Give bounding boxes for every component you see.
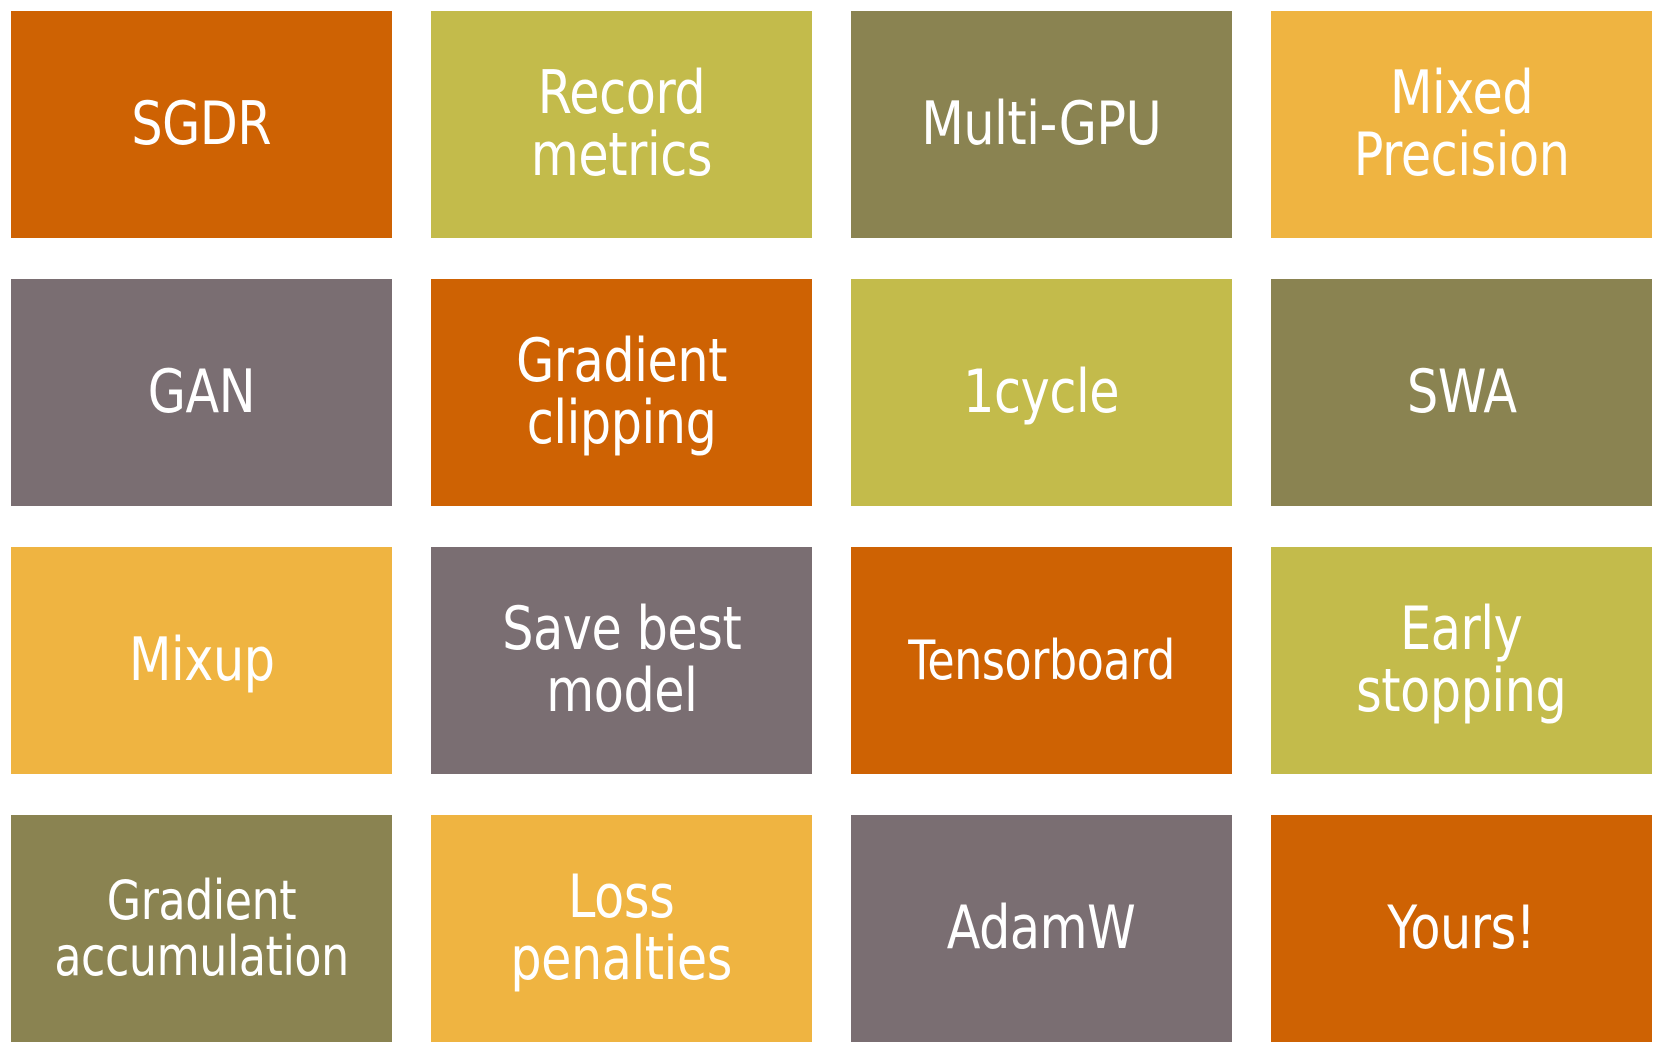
tile-tensorboard[interactable]: Tensorboard	[851, 547, 1232, 774]
tile-label-save-best-model: Save best model	[502, 599, 741, 721]
tile-adamw[interactable]: AdamW	[851, 815, 1232, 1042]
tile-multi-gpu[interactable]: Multi-GPU	[851, 11, 1232, 238]
tile-swa[interactable]: SWA	[1271, 279, 1652, 506]
tile-label-mixup: Mixup	[129, 630, 275, 691]
tile-label-early-stopping: Early stopping	[1356, 599, 1566, 721]
tile-early-stopping[interactable]: Early stopping	[1271, 547, 1652, 774]
tile-label-loss-penalties: Loss penalties	[511, 867, 733, 989]
tile-save-best-model[interactable]: Save best model	[431, 547, 812, 774]
tile-grid: SGDRRecord metricsMulti-GPUMixed Precisi…	[0, 0, 1669, 1057]
tile-yours[interactable]: Yours!	[1271, 815, 1652, 1042]
tile-label-sgdr: SGDR	[132, 94, 272, 155]
tile-label-multi-gpu: Multi-GPU	[922, 94, 1162, 155]
tile-sgdr[interactable]: SGDR	[11, 11, 392, 238]
tile-label-1cycle: 1cycle	[963, 362, 1119, 423]
tile-label-mixed-precision: Mixed Precision	[1354, 63, 1570, 185]
tile-label-tensorboard: Tensorboard	[908, 633, 1175, 688]
tile-label-adamw: AdamW	[947, 898, 1136, 959]
tile-label-gradient-accumulation: Gradient accumulation	[54, 873, 348, 983]
tile-label-swa: SWA	[1407, 362, 1517, 423]
tile-1cycle[interactable]: 1cycle	[851, 279, 1232, 506]
tile-gan[interactable]: GAN	[11, 279, 392, 506]
tile-record-metrics[interactable]: Record metrics	[431, 11, 812, 238]
tile-label-gan: GAN	[148, 362, 255, 423]
tile-gradient-clipping[interactable]: Gradient clipping	[431, 279, 812, 506]
tile-mixed-precision[interactable]: Mixed Precision	[1271, 11, 1652, 238]
tile-label-record-metrics: Record metrics	[531, 63, 712, 185]
tile-label-gradient-clipping: Gradient clipping	[516, 331, 727, 453]
tile-label-yours: Yours!	[1388, 898, 1536, 959]
tile-loss-penalties[interactable]: Loss penalties	[431, 815, 812, 1042]
tile-gradient-accumulation[interactable]: Gradient accumulation	[11, 815, 392, 1042]
tile-mixup[interactable]: Mixup	[11, 547, 392, 774]
